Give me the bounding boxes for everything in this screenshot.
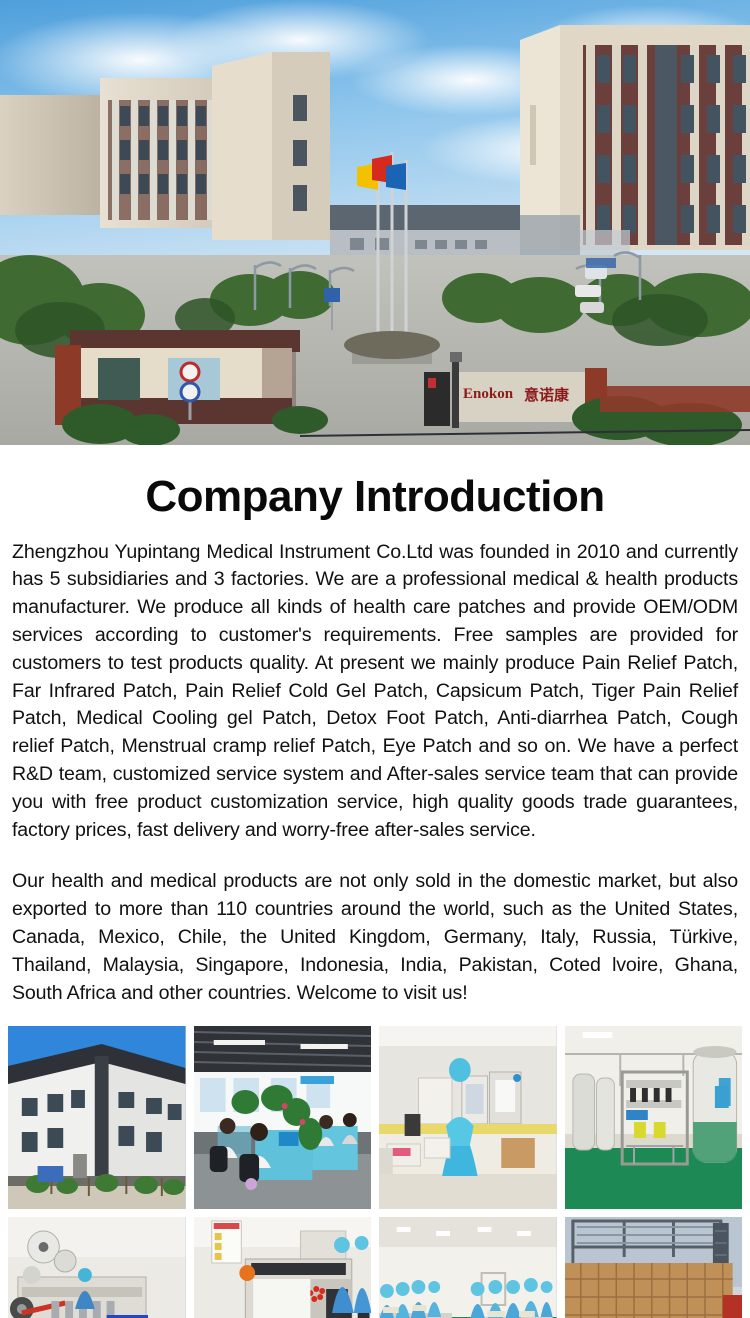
intro-paragraph-1: Zhengzhou Yupintang Medical Instrument C… xyxy=(12,539,738,845)
svg-text:Enokon: Enokon xyxy=(463,386,514,402)
patch-coating-machine-photo xyxy=(8,1217,186,1318)
gallery-item-patch-coating-machine[interactable] xyxy=(8,1217,186,1318)
gallery-item-factory-building[interactable] xyxy=(8,1026,186,1209)
office-workspace-photo xyxy=(194,1026,372,1209)
slitting-machine-photo xyxy=(194,1217,372,1318)
factory-building-photo xyxy=(8,1026,186,1209)
intro-paragraph-2: Our health and medical products are not … xyxy=(12,868,738,1007)
svg-text:意诺康: 意诺康 xyxy=(524,386,570,404)
gallery-item-water-treatment[interactable] xyxy=(565,1026,743,1209)
gallery-item-assembly-line[interactable] xyxy=(379,1217,557,1318)
gallery-item-slitting-machine[interactable] xyxy=(194,1217,372,1318)
gallery-item-container-loading[interactable] xyxy=(565,1217,743,1318)
assembly-line-photo xyxy=(379,1217,557,1318)
blue-company-flag xyxy=(386,163,406,190)
page-title: Company Introduction xyxy=(12,473,738,521)
company-introduction-page: Enokon 意诺康 xyxy=(0,0,750,1318)
introduction-content: Company Introduction Zhengzhou Yupintang… xyxy=(0,473,750,1008)
container-loading-photo xyxy=(565,1217,743,1318)
water-treatment-photo xyxy=(565,1026,743,1209)
hero-banner-image: Enokon 意诺康 xyxy=(0,0,750,445)
gallery-item-office-workspace[interactable] xyxy=(194,1026,372,1209)
gallery-item-laboratory-testing[interactable] xyxy=(379,1026,557,1209)
laboratory-testing-photo xyxy=(379,1026,557,1209)
hero-illustration: Enokon 意诺康 xyxy=(0,0,750,445)
photo-gallery xyxy=(0,1026,750,1318)
